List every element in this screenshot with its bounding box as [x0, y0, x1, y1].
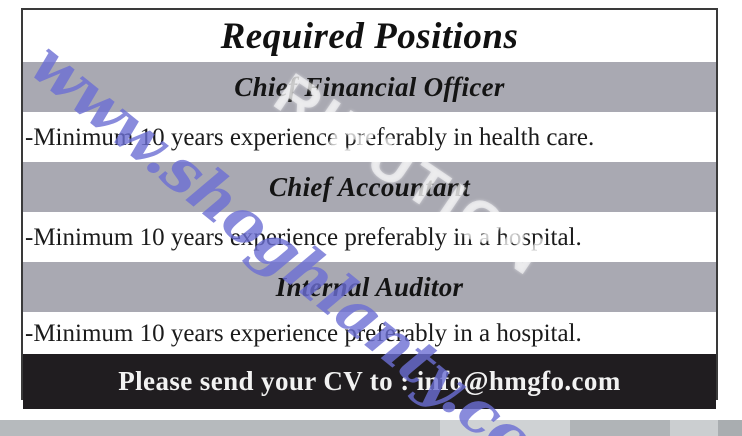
- position-requirement-row-3: -Minimum 10 years experience preferably …: [23, 312, 716, 354]
- position-title-chief-accountant: Chief Accountant: [269, 174, 470, 201]
- position-title-internal-auditor: Internal Auditor: [276, 274, 464, 301]
- position-title-chief-financial-officer: Chief Financial Officer: [234, 74, 504, 101]
- bottom-strip-segment-d: [718, 420, 742, 436]
- bottom-strip-segment-b: [570, 420, 670, 436]
- position-heading-row-2: Chief Accountant: [23, 162, 716, 212]
- advert-title-row: Required Positions: [23, 10, 716, 62]
- requirement-text-internal-auditor: -Minimum 10 years experience preferably …: [25, 321, 582, 346]
- requirement-text-chief-financial-officer: -Minimum 10 years experience preferably …: [25, 125, 594, 150]
- advertisement-page: RIBUTION Required Positions Chief Financ…: [0, 0, 742, 436]
- position-heading-row-1: Chief Financial Officer: [23, 62, 716, 112]
- contact-footer-bar: Please send your CV to : info@hmgfo.com: [23, 354, 716, 409]
- page-title: Required Positions: [221, 18, 519, 55]
- position-requirement-row-1: -Minimum 10 years experience preferably …: [23, 112, 716, 162]
- advert-box: Required Positions Chief Financial Offic…: [21, 8, 718, 400]
- bottom-strip-segment-a: [440, 420, 570, 436]
- requirement-text-chief-accountant: -Minimum 10 years experience preferably …: [25, 225, 582, 250]
- bottom-strip-segment-c: [670, 420, 718, 436]
- position-heading-row-3: Internal Auditor: [23, 262, 716, 312]
- position-requirement-row-2: -Minimum 10 years experience preferably …: [23, 212, 716, 262]
- bottom-grey-strip: [0, 420, 742, 436]
- contact-email-text: Please send your CV to : info@hmgfo.com: [118, 368, 620, 395]
